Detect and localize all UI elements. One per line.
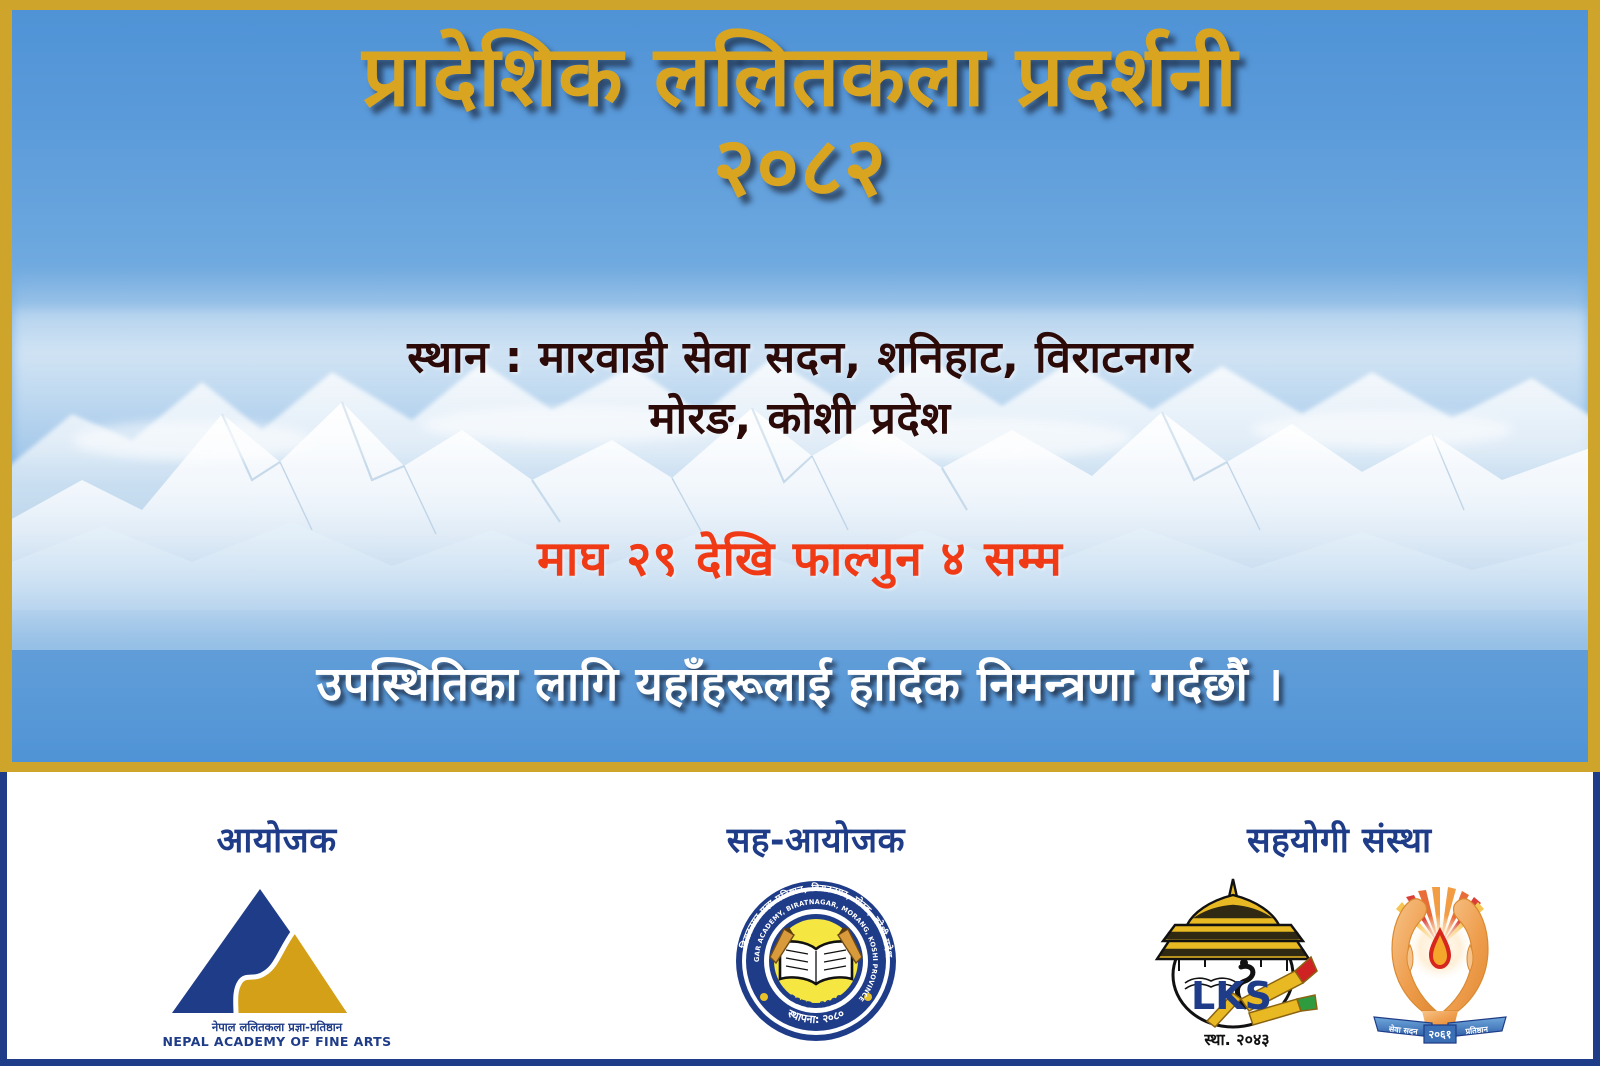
venue-text: स्थान : मारवाडी सेवा सदन, शनिहाट, विराटन… bbox=[12, 328, 1588, 449]
footer-column-organizer: आयोजक नेपाल ललितकला प्रज्ञा-प्रतिष्ठान N… bbox=[7, 806, 546, 1050]
venue-line-2: मोरङ, कोशी प्रदेश bbox=[12, 389, 1588, 450]
title-line-2: २०८२ bbox=[12, 126, 1588, 210]
hands-flame-logo: सेवा सदन प्रतिष्ठान २०६१ bbox=[1348, 871, 1533, 1055]
lks-estd-year: स्था. २०४३ bbox=[1204, 1030, 1270, 1049]
page-title: प्रादेशिक ललितकला प्रदर्शनी २०८२ bbox=[12, 34, 1588, 209]
lks-abbreviation: LKS bbox=[1191, 974, 1272, 1018]
banner-text-block: प्रादेशिक ललितकला प्रदर्शनी २०८२ स्थान :… bbox=[12, 10, 1588, 762]
co-organizer-label: सह-आयोजक bbox=[546, 816, 1085, 863]
organizer-label: आयोजक bbox=[7, 816, 546, 863]
poster-root: प्रादेशिक ललितकला प्रदर्शनी २०८२ स्थान :… bbox=[0, 0, 1600, 1066]
ribbon-year: २०६१ bbox=[1429, 1028, 1452, 1041]
banner-frame: प्रादेशिक ललितकला प्रदर्शनी २०८२ स्थान :… bbox=[0, 0, 1600, 772]
invitation-text: उपस्थितिका लागि यहाँहरूलाई हार्दिक निमन्… bbox=[12, 650, 1588, 714]
venue-line-1: स्थान : मारवाडी सेवा सदन, शनिहाट, विराटन… bbox=[407, 332, 1193, 383]
sponsors-footer: आयोजक नेपाल ललितकला प्रज्ञा-प्रतिष्ठान N… bbox=[0, 772, 1600, 1066]
nepal-academy-of-fine-arts-logo: नेपाल ललितकला प्रज्ञा-प्रतिष्ठान NEPAL A… bbox=[142, 871, 412, 1055]
banner-scene: प्रादेशिक ललितकला प्रदर्शनी २०८२ स्थान :… bbox=[12, 10, 1588, 762]
title-line-1: प्रादेशिक ललितकला प्रदर्शनी bbox=[362, 27, 1238, 125]
event-dates: माघ २९ देखि फाल्गुन ४ सम्म bbox=[12, 525, 1588, 590]
nafa-caption-nepali: नेपाल ललितकला प्रज्ञा-प्रतिष्ठान bbox=[210, 1020, 342, 1034]
footer-column-supporting: सहयोगी संस्था bbox=[1085, 806, 1593, 1050]
footer-column-co-organizer: सह-आयोजक bbox=[546, 806, 1085, 1050]
biratnagar-academy-seal: विराटनगर प्रज्ञा प्रतिष्ठान, विराटनगर, म… bbox=[726, 871, 906, 1055]
lks-logo: LKS स्था. २०४३ bbox=[1145, 871, 1330, 1055]
supporting-label: सहयोगी संस्था bbox=[1085, 816, 1593, 863]
nafa-caption-english: NEPAL ACADEMY OF FINE ARTS bbox=[162, 1034, 391, 1049]
